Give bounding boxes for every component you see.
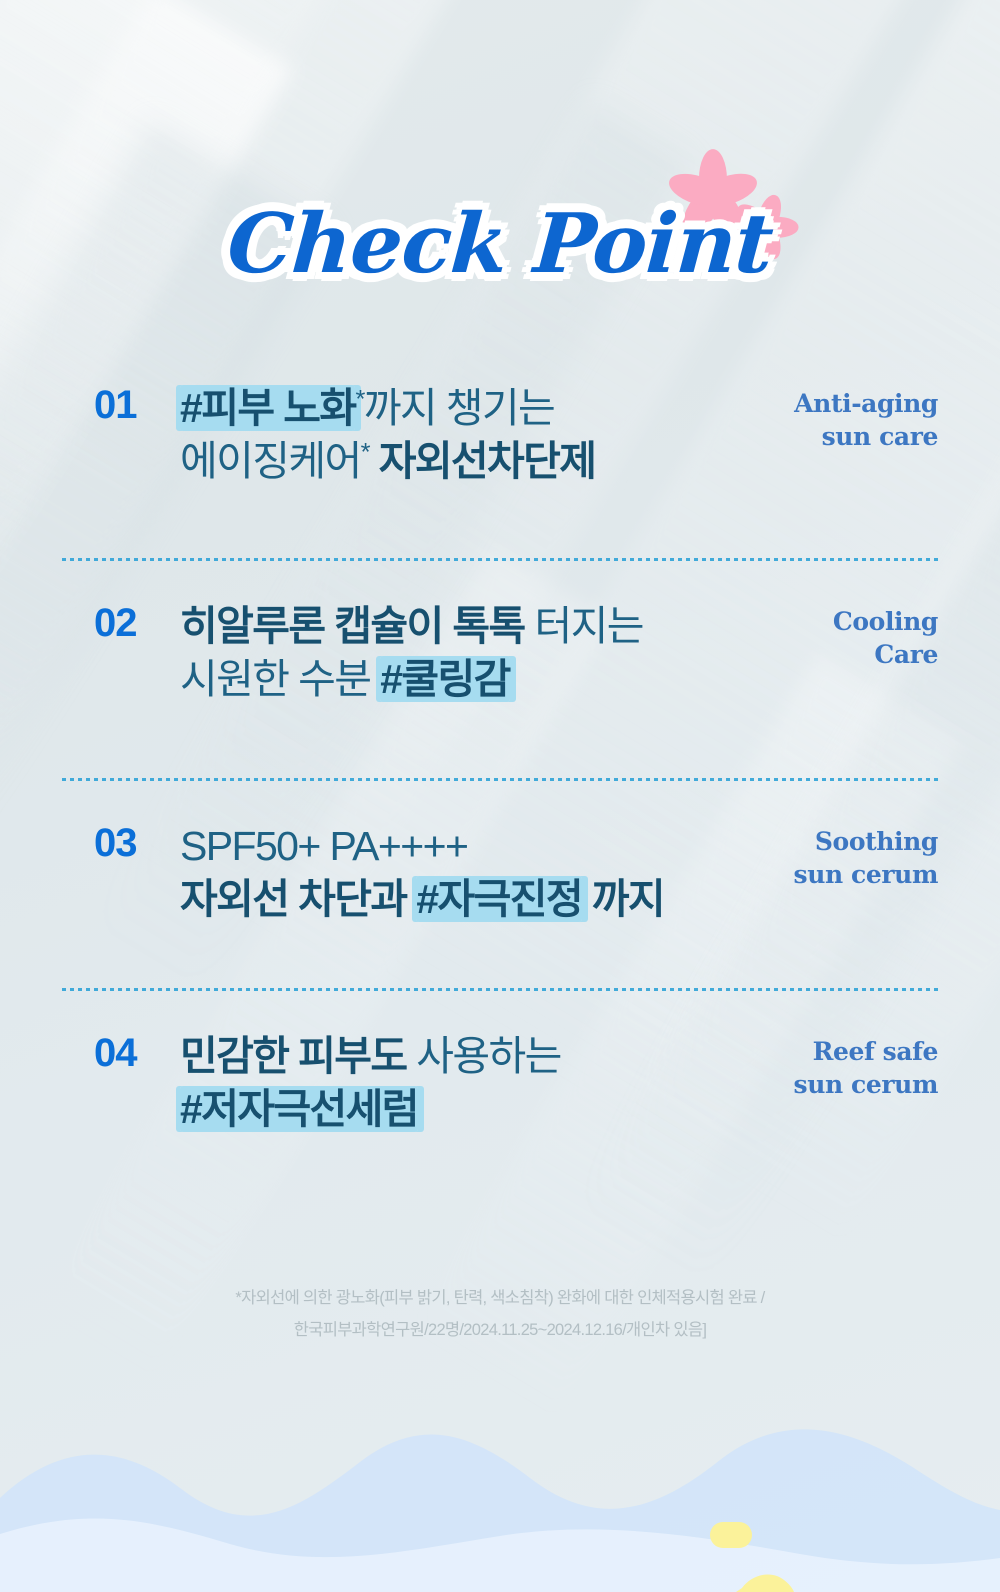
text-segment: 사용하는: [407, 1033, 561, 1079]
checklist-item-line1: SPF50+ PA++++: [180, 820, 728, 873]
checklist-item-number: 02: [62, 600, 180, 647]
text-segment: *: [355, 385, 363, 413]
checklist-item-tag: Anti-agingsun care: [738, 382, 938, 453]
checklist-item: 01#피부 노화*까지 챙기는에이징케어* 자외선차단제Anti-agingsu…: [0, 382, 1000, 489]
highlighted-text: #피부 노화: [180, 385, 355, 431]
tag-line-1: Anti-aging: [738, 388, 938, 421]
checklist-item-tag: Reef safesun cerum: [738, 1030, 938, 1101]
checklist-item: 04민감한 피부도 사용하는#저자극선세럼Reef safesun cerum: [0, 1030, 1000, 1137]
text-segment: 자외선차단제: [369, 438, 596, 484]
checklist-item-text: 히알루론 캡슐이 톡톡 터지는시원한 수분 #쿨링감: [180, 600, 738, 707]
footnote-line-2: 한국피부과학연구원/22명/2024.11.25~2024.12.16/개인차 …: [0, 1314, 1000, 1346]
checklist-item-number: 04: [62, 1030, 180, 1077]
highlighted-text: #자극진정: [416, 876, 582, 922]
tag-line-1: Cooling: [738, 606, 938, 639]
text-segment: 자외선 차단과: [180, 876, 416, 922]
paper-texture-stroke: [0, 0, 294, 686]
checklist-item-line2: #저자극선세럼: [180, 1083, 728, 1136]
checklist-item-number: 03: [62, 820, 180, 867]
checklist-item-line2: 에이징케어* 자외선차단제: [180, 435, 728, 488]
text-segment: 에이징케어: [180, 438, 361, 484]
checklist-item-line1: 히알루론 캡슐이 톡톡 터지는: [180, 600, 728, 653]
check-point-page: Check Point 01#피부 노화*까지 챙기는에이징케어* 자외선차단제…: [0, 0, 1000, 1592]
page-title-wrap: Check Point: [0, 196, 1000, 292]
section-divider: [62, 988, 938, 991]
section-divider: [62, 558, 938, 561]
tag-line-2: sun cerum: [738, 859, 938, 892]
page-title: Check Point: [225, 196, 776, 292]
text-segment: SPF50+ PA++++: [180, 823, 467, 869]
tag-line-2: sun cerum: [738, 1069, 938, 1102]
whale-illustration: [620, 0, 1000, 48]
checklist-item-line2: 자외선 차단과 #자극진정 까지: [180, 873, 728, 926]
text-segment: *: [361, 439, 369, 467]
text-segment: 까지 챙기는: [364, 385, 554, 431]
checklist-item-line1: 민감한 피부도 사용하는: [180, 1030, 728, 1083]
text-segment: 민감한 피부도: [180, 1033, 407, 1079]
checklist-item-text: #피부 노화*까지 챙기는에이징케어* 자외선차단제: [180, 382, 738, 489]
highlighted-text: #쿨링감: [380, 656, 510, 702]
tag-line-1: Soothing: [738, 826, 938, 859]
highlighted-text: #저자극선세럼: [180, 1086, 418, 1132]
checklist-item: 03SPF50+ PA++++자외선 차단과 #자극진정 까지Soothings…: [0, 820, 1000, 927]
checklist-item-line2: 시원한 수분 #쿨링감: [180, 653, 728, 706]
footnote: *자외선에 의한 광노화(피부 밝기, 탄력, 색소침착) 완화에 대한 인체적…: [0, 1282, 1000, 1346]
checklist-item-text: SPF50+ PA++++자외선 차단과 #자극진정 까지: [180, 820, 738, 927]
text-segment: 시원한 수분: [180, 656, 380, 702]
checklist-item-number: 01: [62, 382, 180, 429]
footnote-line-1: *자외선에 의한 광노화(피부 밝기, 탄력, 색소침착) 완화에 대한 인체적…: [0, 1282, 1000, 1314]
checklist-item-line1: #피부 노화*까지 챙기는: [180, 382, 728, 435]
wave-shape: [0, 1402, 1000, 1592]
checklist-item-tag: CoolingCare: [738, 600, 938, 671]
section-divider: [62, 778, 938, 781]
tag-line-2: Care: [738, 639, 938, 672]
checklist-item-tag: Soothingsun cerum: [738, 820, 938, 891]
text-segment: 까지: [582, 876, 664, 922]
tag-line-2: sun care: [738, 421, 938, 454]
text-segment: 히알루론 캡슐이 톡톡: [180, 603, 525, 649]
checklist-item: 02히알루론 캡슐이 톡톡 터지는시원한 수분 #쿨링감CoolingCare: [0, 600, 1000, 707]
text-segment: 터지는: [525, 603, 643, 649]
checklist-item-text: 민감한 피부도 사용하는#저자극선세럼: [180, 1030, 738, 1137]
tag-line-1: Reef safe: [738, 1036, 938, 1069]
